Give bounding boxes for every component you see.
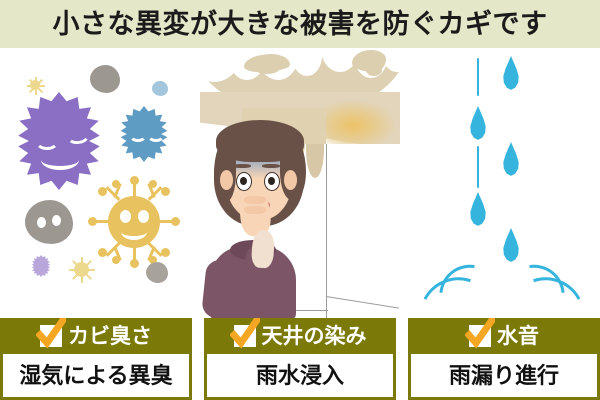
card-title: カビ臭さ bbox=[68, 326, 152, 347]
germ-blue-spiky bbox=[116, 106, 172, 162]
card-title: 水音 bbox=[497, 326, 539, 347]
water-drop-4 bbox=[466, 192, 490, 228]
panel-water-drops bbox=[400, 48, 600, 318]
germ-yellow-antenna bbox=[88, 176, 180, 268]
panel-ceiling-stain bbox=[200, 48, 400, 318]
brow-left bbox=[233, 164, 251, 168]
germ-gray-eye-right bbox=[52, 215, 61, 226]
check-icon bbox=[234, 325, 256, 347]
card-detail: 雨水浸入 bbox=[256, 365, 344, 387]
germ-gray-blob-top bbox=[90, 65, 120, 93]
sparkle-icon-small-1 bbox=[26, 76, 46, 96]
symptom-cards: カビ臭さ 湿気による異臭 天井の染み 雨水浸入 bbox=[0, 318, 600, 400]
germ-yellow-eye-left bbox=[120, 210, 131, 223]
pupil-right bbox=[268, 177, 275, 185]
drop-trail-2 bbox=[477, 146, 479, 188]
sparkle-icon-small-2 bbox=[68, 256, 96, 284]
card-title: 天井の染み bbox=[262, 326, 367, 347]
card-body: 湿気による異臭 bbox=[0, 354, 192, 400]
water-drop-3 bbox=[499, 142, 523, 178]
ear-right bbox=[284, 170, 297, 190]
drop-trail-1 bbox=[477, 58, 479, 96]
germ-purple-eye-right bbox=[65, 124, 91, 145]
card-water-sound[interactable]: 水音 雨漏り進行 bbox=[408, 318, 600, 400]
card-detail: 湿気による異臭 bbox=[19, 365, 172, 387]
water-drop-5 bbox=[499, 228, 523, 264]
check-icon bbox=[469, 325, 491, 347]
water-drop-2 bbox=[466, 106, 490, 142]
card-detail: 雨漏り進行 bbox=[449, 365, 559, 387]
page-title: 小さな異変が大きな被害を防ぐカギです bbox=[53, 11, 548, 38]
ear-left bbox=[220, 170, 233, 190]
poster-root: 小さな異変が大きな被害を防ぐカギです bbox=[0, 0, 600, 400]
germ-blue-dot bbox=[152, 81, 168, 96]
pupil-left bbox=[240, 177, 247, 185]
germ-blue-eye-left bbox=[129, 128, 147, 142]
panel-mold-germs bbox=[0, 48, 200, 318]
finger-1 bbox=[244, 196, 266, 204]
finger-2 bbox=[244, 206, 266, 214]
germ-purple-eye-left bbox=[35, 132, 59, 150]
germ-blue-eye-right bbox=[147, 128, 165, 142]
card-body: 雨漏り進行 bbox=[408, 354, 600, 400]
germ-gray-blob-mid bbox=[25, 200, 73, 244]
germ-yellow-mouth bbox=[121, 224, 147, 240]
germ-purple-small bbox=[30, 255, 52, 277]
brow-right bbox=[262, 164, 280, 168]
illustration-strip bbox=[0, 48, 600, 318]
card-mold-smell[interactable]: カビ臭さ 湿気による異臭 bbox=[0, 318, 192, 400]
germ-purple-mouth bbox=[41, 150, 79, 170]
card-header: 天井の染み bbox=[204, 318, 396, 354]
water-drop-1 bbox=[499, 56, 523, 92]
check-icon bbox=[40, 325, 62, 347]
germ-yellow-eye-right bbox=[138, 210, 149, 223]
card-header: カビ臭さ bbox=[0, 318, 192, 354]
germ-gray-eye-left bbox=[37, 217, 46, 228]
card-header: 水音 bbox=[408, 318, 600, 354]
person-woman bbox=[200, 48, 400, 318]
card-ceiling-stain[interactable]: 天井の染み 雨水浸入 bbox=[204, 318, 396, 400]
card-body: 雨水浸入 bbox=[204, 354, 396, 400]
germ-gray-blob-bottom bbox=[146, 262, 168, 283]
title-band: 小さな異変が大きな被害を防ぐカギです bbox=[0, 0, 600, 48]
